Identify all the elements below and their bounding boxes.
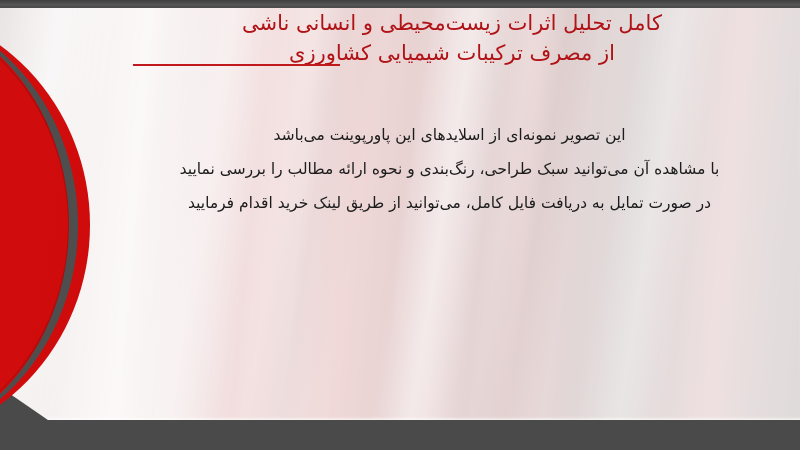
title-underline-rule: [133, 64, 340, 66]
slide-body-text: این تصویر نمونه‌ای از اسلایدهای این پاور…: [127, 118, 772, 220]
right-red-lens-decoration: [732, 232, 800, 382]
slide-frame-top-bar: [0, 0, 800, 8]
presentation-slide: کامل تحلیل اثرات زیست‌محیطی و انسانی ناش…: [0, 0, 800, 450]
slide-title: کامل تحلیل اثرات زیست‌محیطی و انسانی ناش…: [132, 8, 772, 68]
body-line-3: در صورت تمایل به دریافت فایل کامل، می‌تو…: [127, 186, 772, 220]
body-line-1: این تصویر نمونه‌ای از اسلایدهای این پاور…: [127, 118, 772, 152]
body-line-2: با مشاهده آن می‌توانید سبک طراحی، رنگ‌بن…: [127, 152, 772, 186]
slide-title-line-1: کامل تحلیل اثرات زیست‌محیطی و انسانی ناش…: [132, 8, 772, 38]
